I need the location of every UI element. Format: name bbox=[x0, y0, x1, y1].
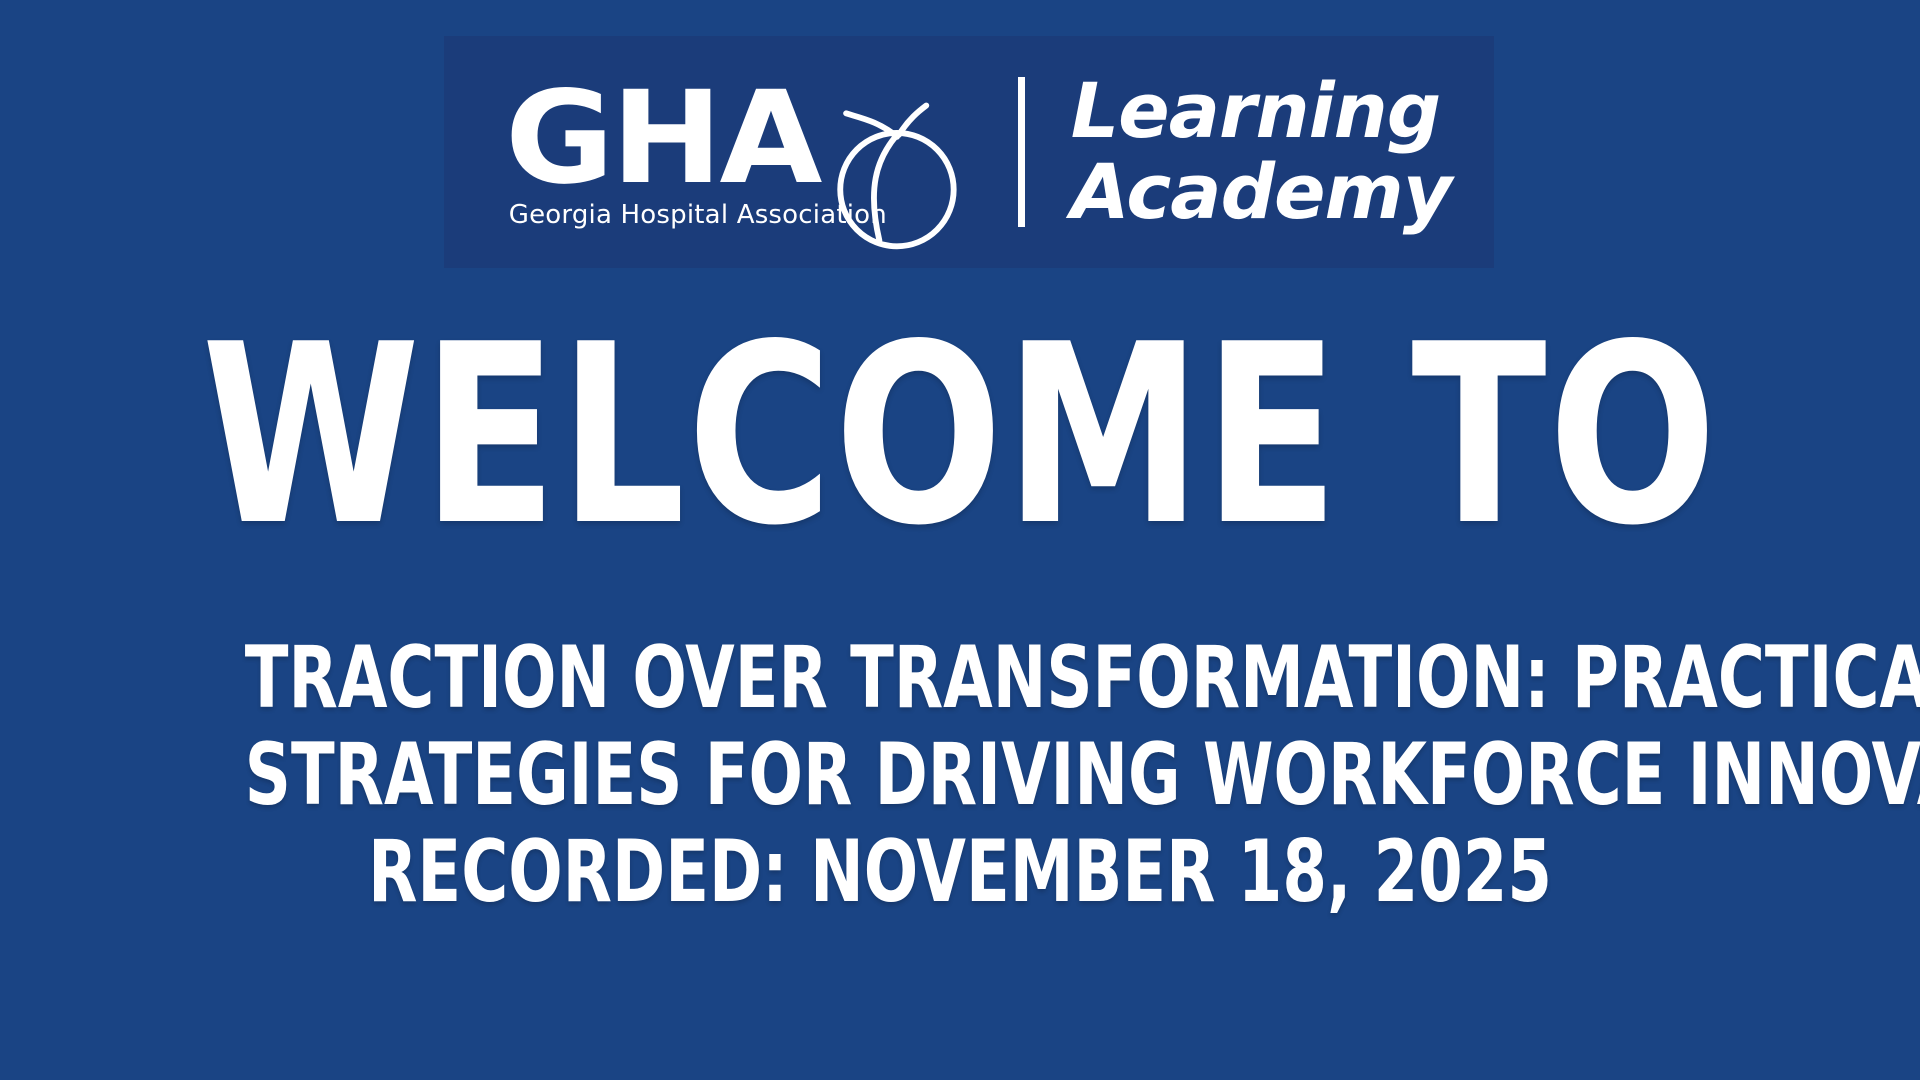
learning-academy-line-1: Learning bbox=[1071, 71, 1452, 152]
gha-wordmark: GHA bbox=[505, 80, 819, 198]
learning-academy-wordmark: Learning Academy bbox=[1071, 36, 1452, 268]
session-subtitle-line-1: TRACTION OVER TRANSFORMATION: PRACTICAL bbox=[245, 630, 1675, 727]
title-slide: GHA Georgia Hospital Association Learnin… bbox=[0, 0, 1920, 1080]
session-recorded-date: RECORDED: NOVEMBER 18, 2025 bbox=[245, 824, 1675, 921]
gha-learning-academy-logo: GHA Georgia Hospital Association Learnin… bbox=[444, 36, 1494, 268]
vertical-divider bbox=[1018, 77, 1025, 227]
session-subtitle: TRACTION OVER TRANSFORMATION: PRACTICAL … bbox=[0, 630, 1920, 922]
gha-logo-group: GHA Georgia Hospital Association bbox=[487, 36, 1010, 268]
session-subtitle-line-2: STRATEGIES FOR DRIVING WORKFORCE INNOVAT… bbox=[245, 727, 1675, 824]
page-title: WELCOME TO bbox=[192, 330, 1728, 543]
learning-academy-line-2: Academy bbox=[1071, 152, 1452, 233]
peach-outline-icon bbox=[807, 84, 983, 260]
